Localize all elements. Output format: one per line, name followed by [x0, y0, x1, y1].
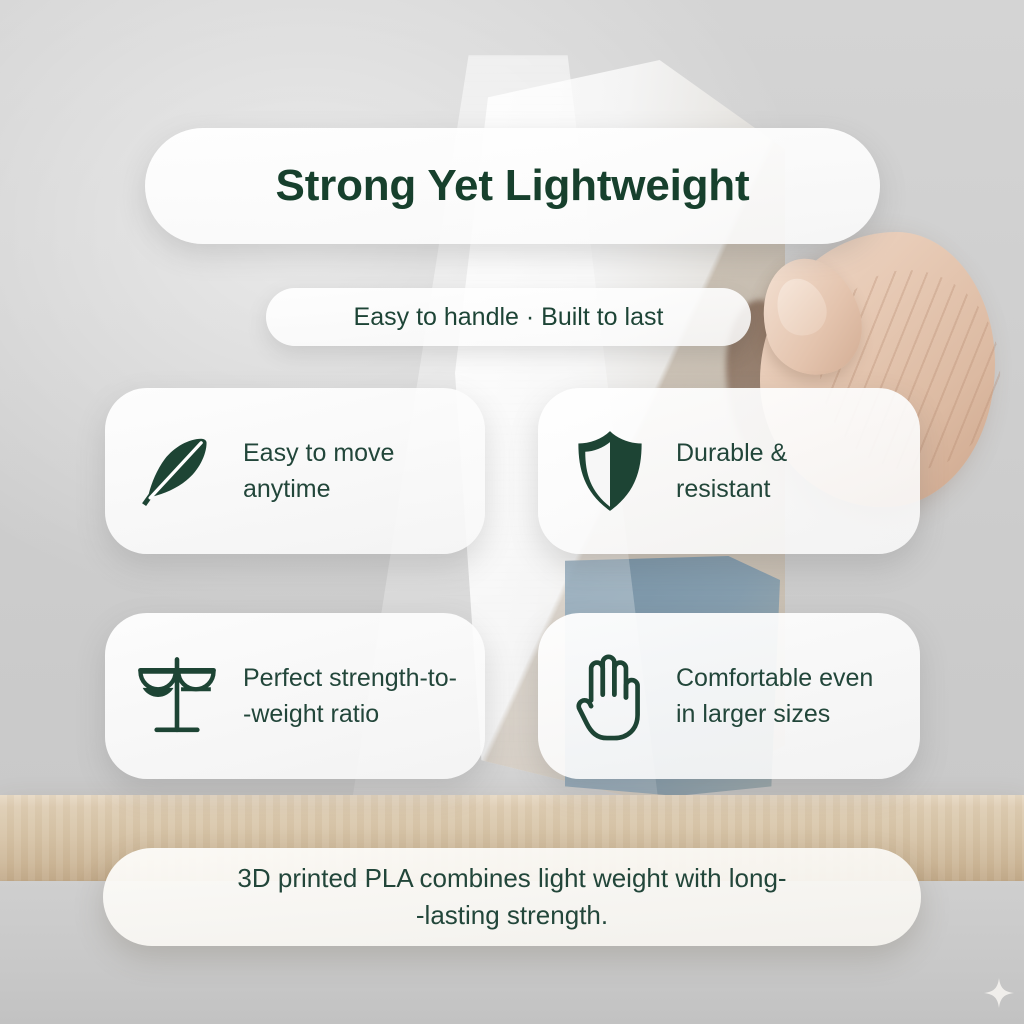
infographic-stage: Strong Yet Lightweight Easy to handle · …: [0, 0, 1024, 1024]
footer-note-line1: 3D printed PLA combines light weight wit…: [237, 863, 786, 893]
feature-label: Perfect strength-to- -weight ratio: [243, 660, 457, 733]
feature-label-line1: Comfortable even: [676, 664, 873, 692]
feature-label: Comfortable even in larger sizes: [676, 660, 873, 733]
feather-icon: [131, 425, 223, 517]
sparkle-icon: [984, 978, 1014, 1008]
footer-note-pill: 3D printed PLA combines light weight wit…: [103, 848, 921, 946]
feature-label-line2: anytime: [243, 475, 331, 503]
feature-card-easy-to-move[interactable]: Easy to move anytime: [105, 388, 485, 554]
feature-card-durable[interactable]: Durable & resistant: [538, 388, 920, 554]
feature-label-line1: Perfect strength-to-: [243, 664, 457, 692]
shield-icon: [564, 425, 656, 517]
footer-note-line2: -lasting strength.: [416, 900, 608, 930]
feature-label-line2: resistant: [676, 475, 770, 503]
footer-note: 3D printed PLA combines light weight wit…: [237, 860, 786, 934]
feature-label-line2: in larger sizes: [676, 700, 830, 728]
feature-card-strength-to-weight[interactable]: Perfect strength-to- -weight ratio: [105, 613, 485, 779]
feature-label: Easy to move anytime: [243, 435, 394, 508]
feature-label-line2: -weight ratio: [243, 700, 379, 728]
feature-label-line1: Durable &: [676, 439, 787, 467]
open-hand-icon: [564, 650, 656, 742]
feature-card-comfortable[interactable]: Comfortable even in larger sizes: [538, 613, 920, 779]
feature-label: Durable & resistant: [676, 435, 787, 508]
balance-scale-icon: [131, 650, 223, 742]
feature-label-line1: Easy to move: [243, 439, 394, 467]
